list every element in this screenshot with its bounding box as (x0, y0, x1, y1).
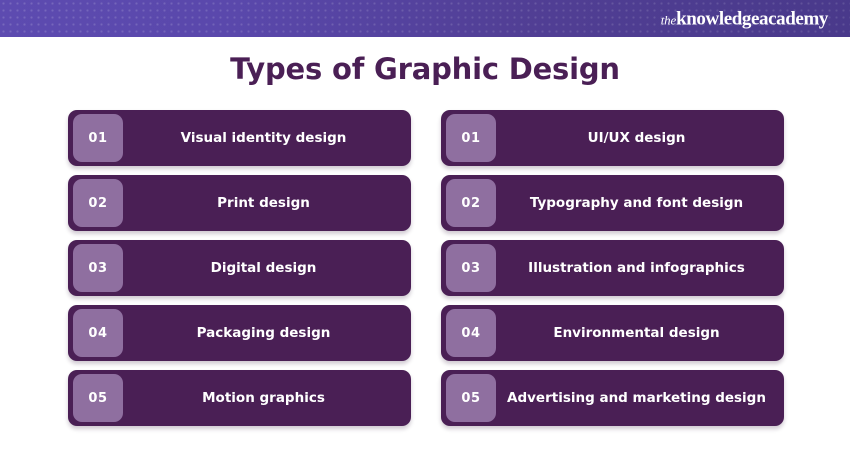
card-label: Illustration and infographics (499, 259, 784, 277)
list-item[interactable]: 01 Visual identity design (68, 110, 411, 166)
brand-prefix-text: the (661, 12, 676, 27)
card-number-badge: 03 (446, 244, 496, 292)
card-number-badge: 03 (73, 244, 123, 292)
card-columns: 01 Visual identity design 02 Print desig… (68, 110, 784, 426)
page-title: Types of Graphic Design (0, 52, 850, 86)
column-right: 01 UI/UX design 02 Typography and font d… (441, 110, 784, 426)
list-item[interactable]: 04 Packaging design (68, 305, 411, 361)
card-number-badge: 01 (446, 114, 496, 162)
list-item[interactable]: 05 Advertising and marketing design (441, 370, 784, 426)
brand-name-text: knowledgeacademy (676, 8, 828, 29)
column-left: 01 Visual identity design 02 Print desig… (68, 110, 411, 426)
card-label: Environmental design (499, 324, 784, 342)
card-label: Print design (126, 194, 411, 212)
list-item[interactable]: 02 Print design (68, 175, 411, 231)
card-label: Motion graphics (126, 389, 411, 407)
list-item[interactable]: 04 Environmental design (441, 305, 784, 361)
card-number-badge: 01 (73, 114, 123, 162)
list-item[interactable]: 01 UI/UX design (441, 110, 784, 166)
card-number-badge: 02 (446, 179, 496, 227)
card-number-badge: 05 (73, 374, 123, 422)
card-label: Visual identity design (126, 129, 411, 147)
brand-logo: theknowledgeacademy (661, 9, 828, 28)
card-number-badge: 04 (446, 309, 496, 357)
card-number-badge: 04 (73, 309, 123, 357)
card-label: Digital design (126, 259, 411, 277)
card-label: Advertising and marketing design (499, 389, 784, 407)
card-label: Typography and font design (499, 194, 784, 212)
list-item[interactable]: 02 Typography and font design (441, 175, 784, 231)
card-number-badge: 02 (73, 179, 123, 227)
header-banner: theknowledgeacademy (0, 0, 850, 37)
card-label: UI/UX design (499, 129, 784, 147)
card-label: Packaging design (126, 324, 411, 342)
card-number-badge: 05 (446, 374, 496, 422)
list-item[interactable]: 05 Motion graphics (68, 370, 411, 426)
list-item[interactable]: 03 Illustration and infographics (441, 240, 784, 296)
list-item[interactable]: 03 Digital design (68, 240, 411, 296)
